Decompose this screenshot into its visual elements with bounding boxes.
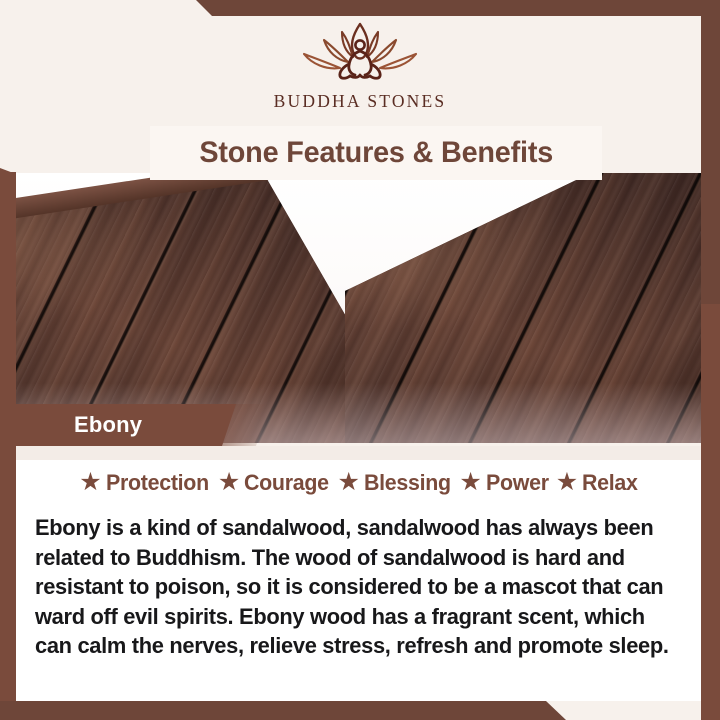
hero-wood-photo — [0, 173, 720, 443]
star-icon: ★ — [459, 470, 481, 495]
frame-bottom-border — [0, 701, 720, 720]
brand-logo: BUDDHA STONES — [0, 18, 720, 122]
star-icon: ★ — [338, 470, 360, 495]
feature-label: Power — [486, 470, 549, 496]
star-icon: ★ — [556, 470, 578, 495]
feature-item-courage: ★ Courage — [218, 470, 334, 496]
feature-item-protection: ★ Protection — [79, 470, 214, 496]
title-banner: Stone Features & Benefits — [150, 126, 602, 180]
feature-item-power: ★ Power — [459, 470, 551, 496]
feature-item-blessing: ★ Blessing — [338, 470, 456, 496]
description-panel-top-edge — [16, 446, 704, 460]
description-text: Ebony is a kind of sandalwood, sandalwoo… — [35, 513, 680, 661]
frame-left-border — [0, 172, 16, 720]
feature-item-relax: ★ Relax — [556, 470, 641, 496]
feature-label: Relax — [582, 470, 638, 496]
frame-left-border-tip — [0, 168, 16, 180]
feature-label: Protection — [106, 470, 209, 496]
material-name-banner: Ebony — [0, 404, 236, 446]
brand-name: BUDDHA STONES — [274, 91, 447, 112]
feature-label: Courage — [244, 470, 329, 496]
star-icon: ★ — [79, 470, 101, 495]
feature-list: ★ Protection ★ Courage ★ Blessing ★ Powe… — [16, 470, 704, 496]
product-info-card: Ebony ★ Protection ★ Courage ★ Blessing … — [0, 0, 720, 720]
feature-label: Blessing — [364, 470, 451, 496]
frame-right-lower-border — [701, 296, 720, 720]
page-title: Stone Features & Benefits — [199, 136, 553, 170]
lotus-meditation-figure-icon — [280, 18, 440, 90]
star-icon: ★ — [218, 470, 240, 495]
material-name-label: Ebony — [74, 412, 142, 438]
frame-top-border — [0, 0, 720, 16]
